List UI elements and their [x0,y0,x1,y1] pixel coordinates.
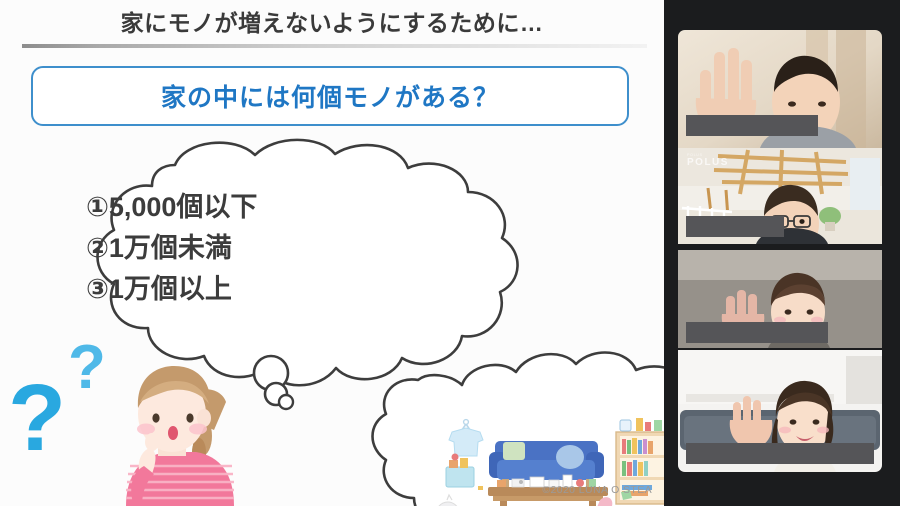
page-title: 家にモノが増えないようにするために… [0,4,664,38]
participant-name-redaction [686,115,818,136]
participant-name-redaction [686,322,828,343]
video-tile-participant-2[interactable]: POLUS POLUS [678,148,882,244]
answers-thought-bubble: ①5,000個以下 ②1万個未満 ③1万個以上 [86,140,518,409]
screen-share-view: 家にモノが増えないようにするために… 家の中には何個モノがある？ [0,0,900,506]
answer-option-2: ②1万個未満 [86,233,232,263]
question-mark-large-icon: ? [8,365,66,471]
video-participants-panel: POLUS POLUS [664,0,900,506]
copyright-notice: ©2020 LUNA O STEA [0,484,652,496]
video-tile-participant-4[interactable] [678,350,882,472]
question-box-text: 家の中には何個モノがある？ [161,78,499,114]
question-mark-small-icon: ? [68,333,106,402]
slide-illustration: ①5,000個以下 ②1万個未満 ③1万個以上 [0,130,664,506]
presentation-slide: 家にモノが増えないようにするために… 家の中には何個モノがある？ [0,0,664,506]
answer-option-1: ①5,000個以下 [86,192,257,222]
question-mark-icons: ? ? [8,333,106,471]
video-tile-participant-1[interactable] [678,30,882,148]
title-divider [22,44,647,48]
video-tile-participant-3[interactable] [678,250,882,348]
question-box: 家の中には何個モノがある？ [31,66,629,126]
polus-watermark: POLUS POLUS [687,154,729,168]
participant-name-redaction [686,443,874,464]
answer-option-3: ③1万個以上 [86,274,232,304]
participant-name-redaction [686,216,784,237]
